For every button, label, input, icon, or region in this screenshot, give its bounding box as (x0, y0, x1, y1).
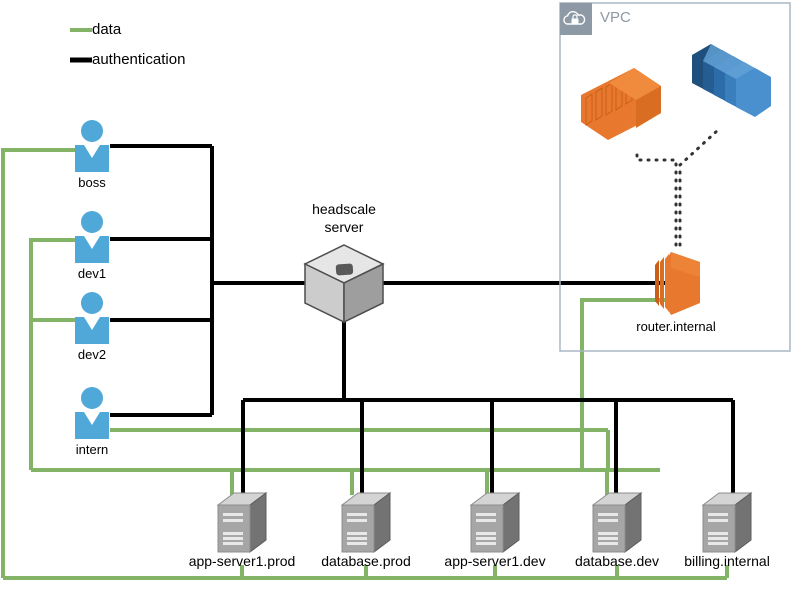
server-icon-billing-internal[interactable] (703, 493, 751, 552)
server-icon-app-server1-prod[interactable] (218, 493, 266, 552)
server-icon-database-dev[interactable] (593, 493, 641, 552)
server-icon-app-server1-dev[interactable] (471, 493, 519, 552)
server-icons-layer (0, 0, 792, 593)
server-label-app-server1-dev: app-server1.dev (444, 553, 545, 569)
network-diagram-canvas: data authentication boss dev1 dev2 inter… (0, 0, 792, 593)
server-label-database-prod: database.prod (321, 553, 411, 569)
server-label-app-server1-prod: app-server1.prod (189, 553, 296, 569)
server-label-billing-internal: billing.internal (684, 553, 770, 569)
server-label-database-dev: database.dev (575, 553, 659, 569)
server-icon-database-prod[interactable] (342, 493, 390, 552)
